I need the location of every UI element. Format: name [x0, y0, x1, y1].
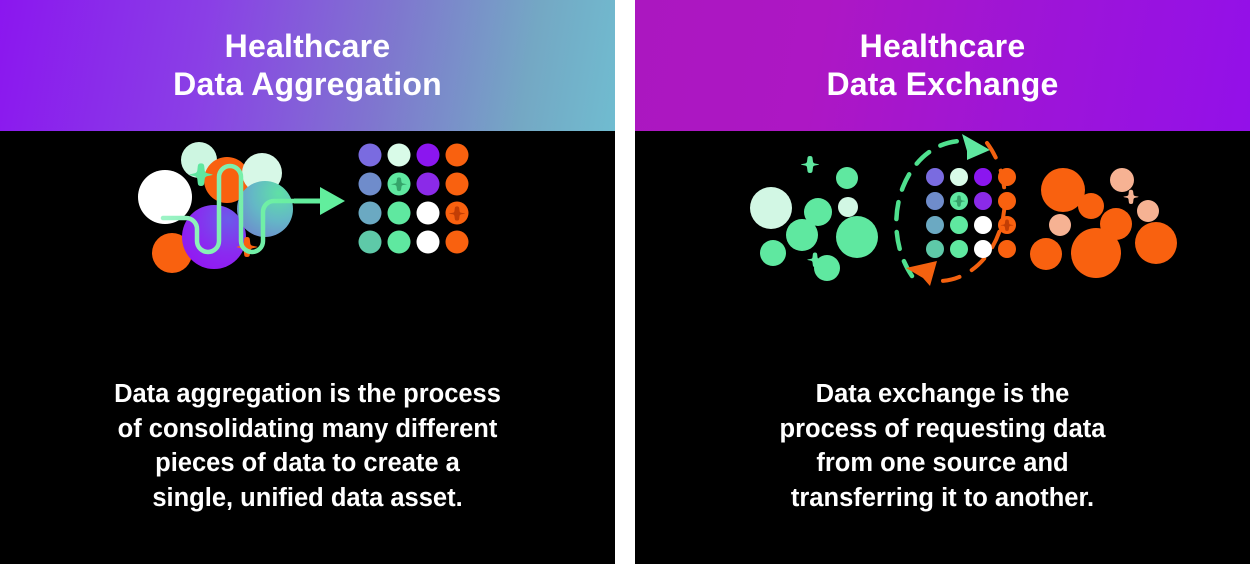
cluster-dot-green	[750, 187, 792, 229]
body-line-4: transferring it to another.	[677, 481, 1208, 516]
grid-dot	[388, 144, 411, 167]
cluster-dot-green	[836, 167, 858, 189]
title-line-2: Data Exchange	[826, 66, 1058, 103]
body-text-aggregation: Data aggregation is the process of conso…	[0, 371, 615, 564]
grid-dot	[998, 192, 1016, 210]
grid-dot	[926, 168, 944, 186]
grid-dot	[974, 168, 992, 186]
grid-dot	[998, 240, 1016, 258]
data-exchange-illustration	[635, 131, 1250, 371]
grid-dot	[926, 216, 944, 234]
grid-dot	[388, 231, 411, 254]
title-line-2: Data Aggregation	[173, 66, 442, 103]
grid-dot	[926, 240, 944, 258]
cluster-dot-orange	[1078, 193, 1104, 219]
grid-dot	[359, 202, 382, 225]
exchange-arc-orange	[940, 143, 1005, 281]
body-line-2: process of requesting data	[677, 412, 1208, 447]
plus-marker-green-icon	[801, 156, 819, 173]
plus-marker-salmon-icon	[1123, 190, 1138, 204]
grid-dot	[446, 173, 469, 196]
cluster-dot-green	[786, 219, 818, 251]
cluster-dot-orange	[1071, 228, 1121, 278]
cluster-dot-orange	[1135, 222, 1177, 264]
comparison-board: Healthcare Data Aggregation	[0, 0, 1250, 564]
grid-dot	[359, 231, 382, 254]
body-line-1: Data aggregation is the process	[42, 377, 573, 412]
grid-dot	[926, 192, 944, 210]
grid-dot	[974, 216, 992, 234]
cluster-dot-green	[838, 197, 858, 217]
exchange-cycle-arrows	[896, 134, 1004, 286]
grid-dot	[359, 173, 382, 196]
source-circle-purple-gradient	[182, 205, 246, 269]
grid-dot	[417, 144, 440, 167]
page-title-exchange: Healthcare Data Exchange	[826, 28, 1058, 102]
grid-dot	[998, 168, 1016, 186]
body-line-3: pieces of data to create a	[42, 446, 573, 481]
grid-dot	[446, 144, 469, 167]
cluster-dot-orange	[1137, 200, 1159, 222]
grid-dot	[359, 144, 382, 167]
grid-dot	[417, 202, 440, 225]
destination-cluster-orange	[1030, 168, 1177, 278]
data-aggregation-illustration	[0, 131, 615, 371]
body-line-1: Data exchange is the	[677, 377, 1208, 412]
grid-dot	[417, 173, 440, 196]
title-line-1: Healthcare	[173, 28, 442, 65]
title-line-1: Healthcare	[826, 28, 1058, 65]
grid-dot	[950, 216, 968, 234]
panel-data-aggregation: Healthcare Data Aggregation	[0, 0, 615, 564]
grid-dot	[974, 192, 992, 210]
panel-divider	[615, 0, 635, 564]
grid-dot	[446, 231, 469, 254]
grid-dot	[950, 240, 968, 258]
grid-dot	[974, 240, 992, 258]
panel-data-exchange: Healthcare Data Exchange	[635, 0, 1250, 564]
body-line-3: from one source and	[677, 446, 1208, 481]
cluster-dot-green	[836, 216, 878, 258]
body-line-4: single, unified data asset.	[42, 481, 573, 516]
page-title-aggregation: Healthcare Data Aggregation	[173, 28, 442, 102]
cluster-dot-green	[760, 240, 786, 266]
grid-dot	[950, 168, 968, 186]
aggregation-svg	[0, 131, 615, 371]
header-data-exchange: Healthcare Data Exchange	[635, 0, 1250, 131]
grid-dot	[388, 202, 411, 225]
source-cluster-green	[750, 156, 878, 281]
exchange-svg	[635, 131, 1250, 371]
cluster-dot-orange	[1030, 238, 1062, 270]
body-text-exchange: Data exchange is the process of requesti…	[635, 371, 1250, 564]
grid-dot	[417, 231, 440, 254]
exchange-arrow-head-green-icon	[962, 134, 990, 160]
cluster-dot-orange	[1049, 214, 1071, 236]
cluster-dot-orange	[1110, 168, 1134, 192]
aggregation-arrow	[294, 187, 345, 215]
aggregated-grid	[359, 144, 469, 254]
header-data-aggregation: Healthcare Data Aggregation	[0, 0, 615, 131]
body-line-2: of consolidating many different	[42, 412, 573, 447]
